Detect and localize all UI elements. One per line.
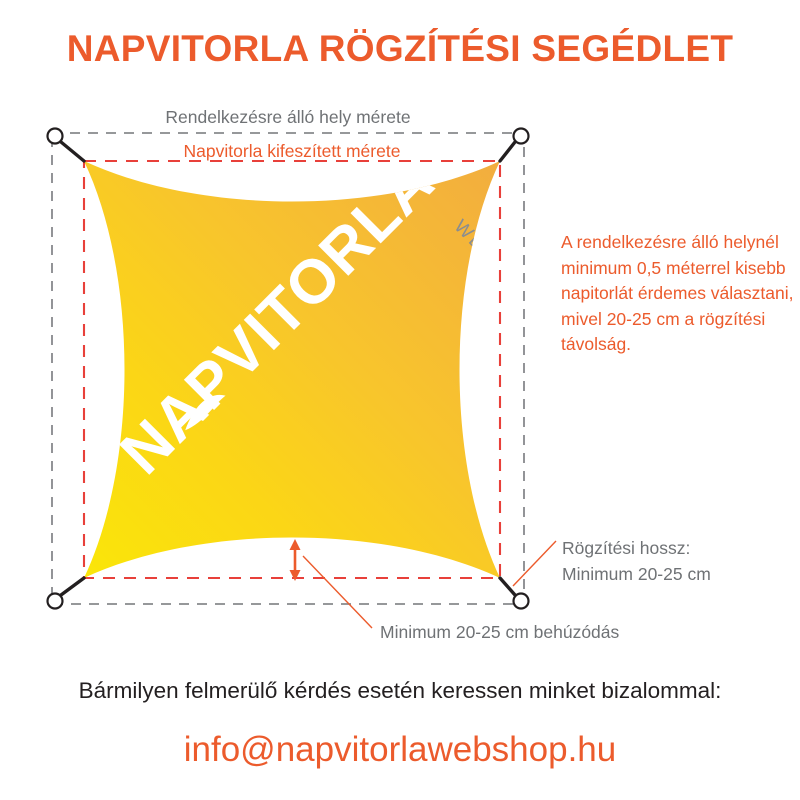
attachment-length-label: Rögzítési hossz: Minimum 20-25 cm xyxy=(562,536,797,587)
sag-arrow xyxy=(290,539,301,581)
outer-space-label: Rendelkezésre álló hely mérete xyxy=(52,107,524,128)
sag-label: Minimum 20-25 cm behúzódás xyxy=(380,622,619,643)
tether-line-top-left xyxy=(61,142,84,161)
tether-line-bottom-left xyxy=(61,578,84,595)
footer-question: Bármilyen felmerülő kérdés esetén keress… xyxy=(0,678,800,704)
leader-line-sag xyxy=(303,556,372,628)
tether-line-bottom-right xyxy=(500,578,515,595)
infographic-page: NAPVITORLA RÖGZÍTÉSI SEGÉDLET xyxy=(0,0,800,800)
eyelet-top-left xyxy=(48,129,63,144)
watermark-subtitle: WEBSHOP.HU xyxy=(450,216,572,338)
sizing-note: A rendelkezésre álló helynél minimum 0,5… xyxy=(561,230,796,358)
tether-line-top-right xyxy=(500,142,515,161)
eyelet-top-right xyxy=(514,129,529,144)
leader-line-attachment xyxy=(513,541,556,586)
inner-sail-label: Napvitorla kifeszített mérete xyxy=(84,141,500,162)
contact-email[interactable]: info@napvitorlawebshop.hu xyxy=(0,730,800,770)
eyelet-bottom-right xyxy=(514,594,529,609)
eyelet-bottom-left xyxy=(48,594,63,609)
sail-shape xyxy=(84,161,500,578)
